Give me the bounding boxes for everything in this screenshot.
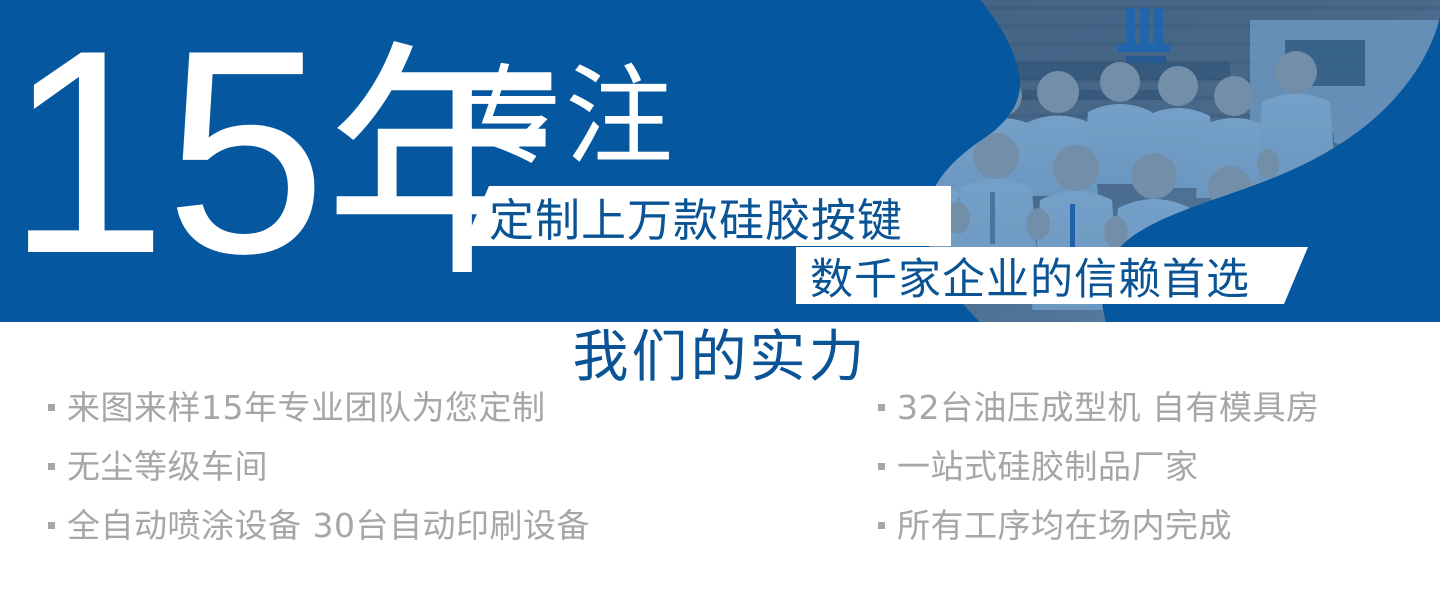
hero-tag-custom-keys: 定制上万款硅胶按键 [463, 186, 951, 246]
headline-focus: 专注 [455, 62, 675, 174]
strength-title: 我们的实力 [0, 327, 1440, 389]
bullet-square-icon [878, 522, 885, 529]
bullet-square-icon [878, 463, 885, 470]
strength-section: 我们的实力 来图来样15年专业团队为您定制 无尘等级车间 全自动喷涂设备 30台… [0, 322, 1440, 600]
bullet-square-icon [48, 522, 55, 529]
list-item-label: 无尘等级车间 [67, 449, 268, 485]
list-item: 全自动喷涂设备 30台自动印刷设备 [48, 508, 590, 567]
list-item: 32台油压成型机 自有模具房 [878, 390, 1319, 449]
promo-banner: 15年 专注 定制上万款硅胶按键 数千家企业的信赖首选 我们的实力 来图来样15… [0, 0, 1440, 600]
hero-section: 15年 专注 定制上万款硅胶按键 数千家企业的信赖首选 [0, 0, 1440, 322]
bullet-square-icon [48, 404, 55, 411]
strength-column-right: 32台油压成型机 自有模具房 一站式硅胶制品厂家 所有工序均在场内完成 [878, 390, 1319, 567]
list-item: 无尘等级车间 [48, 449, 590, 508]
list-item-label: 全自动喷涂设备 30台自动印刷设备 [67, 508, 590, 544]
headline-years-number: 15 [6, 0, 325, 314]
strength-columns: 来图来样15年专业团队为您定制 无尘等级车间 全自动喷涂设备 30台自动印刷设备… [0, 390, 1440, 600]
bullet-square-icon [878, 404, 885, 411]
list-item: 一站式硅胶制品厂家 [878, 449, 1319, 508]
strength-column-left: 来图来样15年专业团队为您定制 无尘等级车间 全自动喷涂设备 30台自动印刷设备 [48, 390, 590, 567]
bullet-square-icon [48, 463, 55, 470]
list-item: 所有工序均在场内完成 [878, 508, 1319, 567]
list-item-label: 所有工序均在场内完成 [897, 508, 1232, 544]
list-item-label: 一站式硅胶制品厂家 [897, 449, 1199, 485]
hero-tag-trusted-choice: 数千家企业的信赖首选 [796, 247, 1308, 304]
list-item-label: 来图来样15年专业团队为您定制 [67, 390, 546, 426]
list-item-label: 32台油压成型机 自有模具房 [897, 390, 1319, 426]
list-item: 来图来样15年专业团队为您定制 [48, 390, 590, 449]
